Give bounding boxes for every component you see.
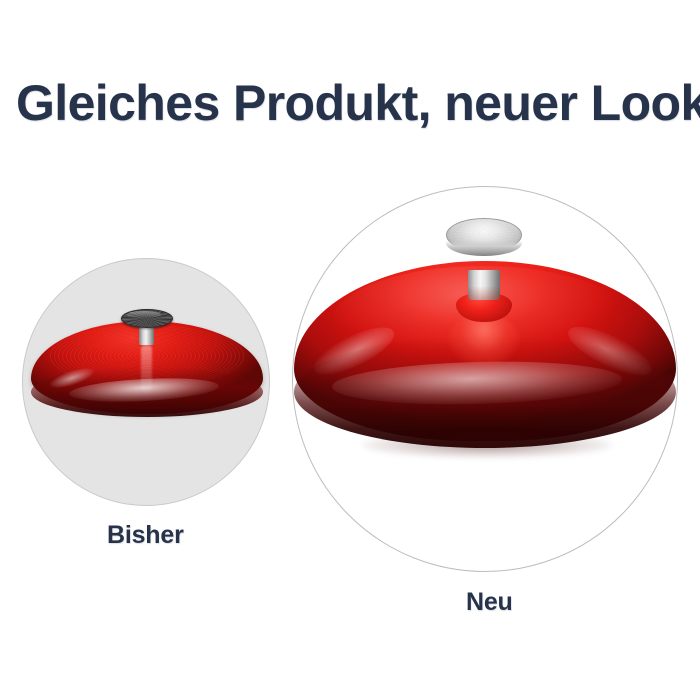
knob-cap-gloss-old [127,311,161,318]
lid-contact-shadow-new [362,432,612,458]
product-comparison-page: Gleiches Produkt, neuer Look Bisher [0,0,700,700]
page-title: Gleiches Produkt, neuer Look [16,76,688,130]
product-illustration-old [23,259,270,506]
caption-new: Neu [466,588,513,617]
knob-cap-edge-new [446,230,522,256]
product-illustration-new [292,186,678,572]
knob-stem-shade-new [468,286,500,300]
product-image-old [22,258,270,506]
caption-old: Bisher [107,521,184,550]
